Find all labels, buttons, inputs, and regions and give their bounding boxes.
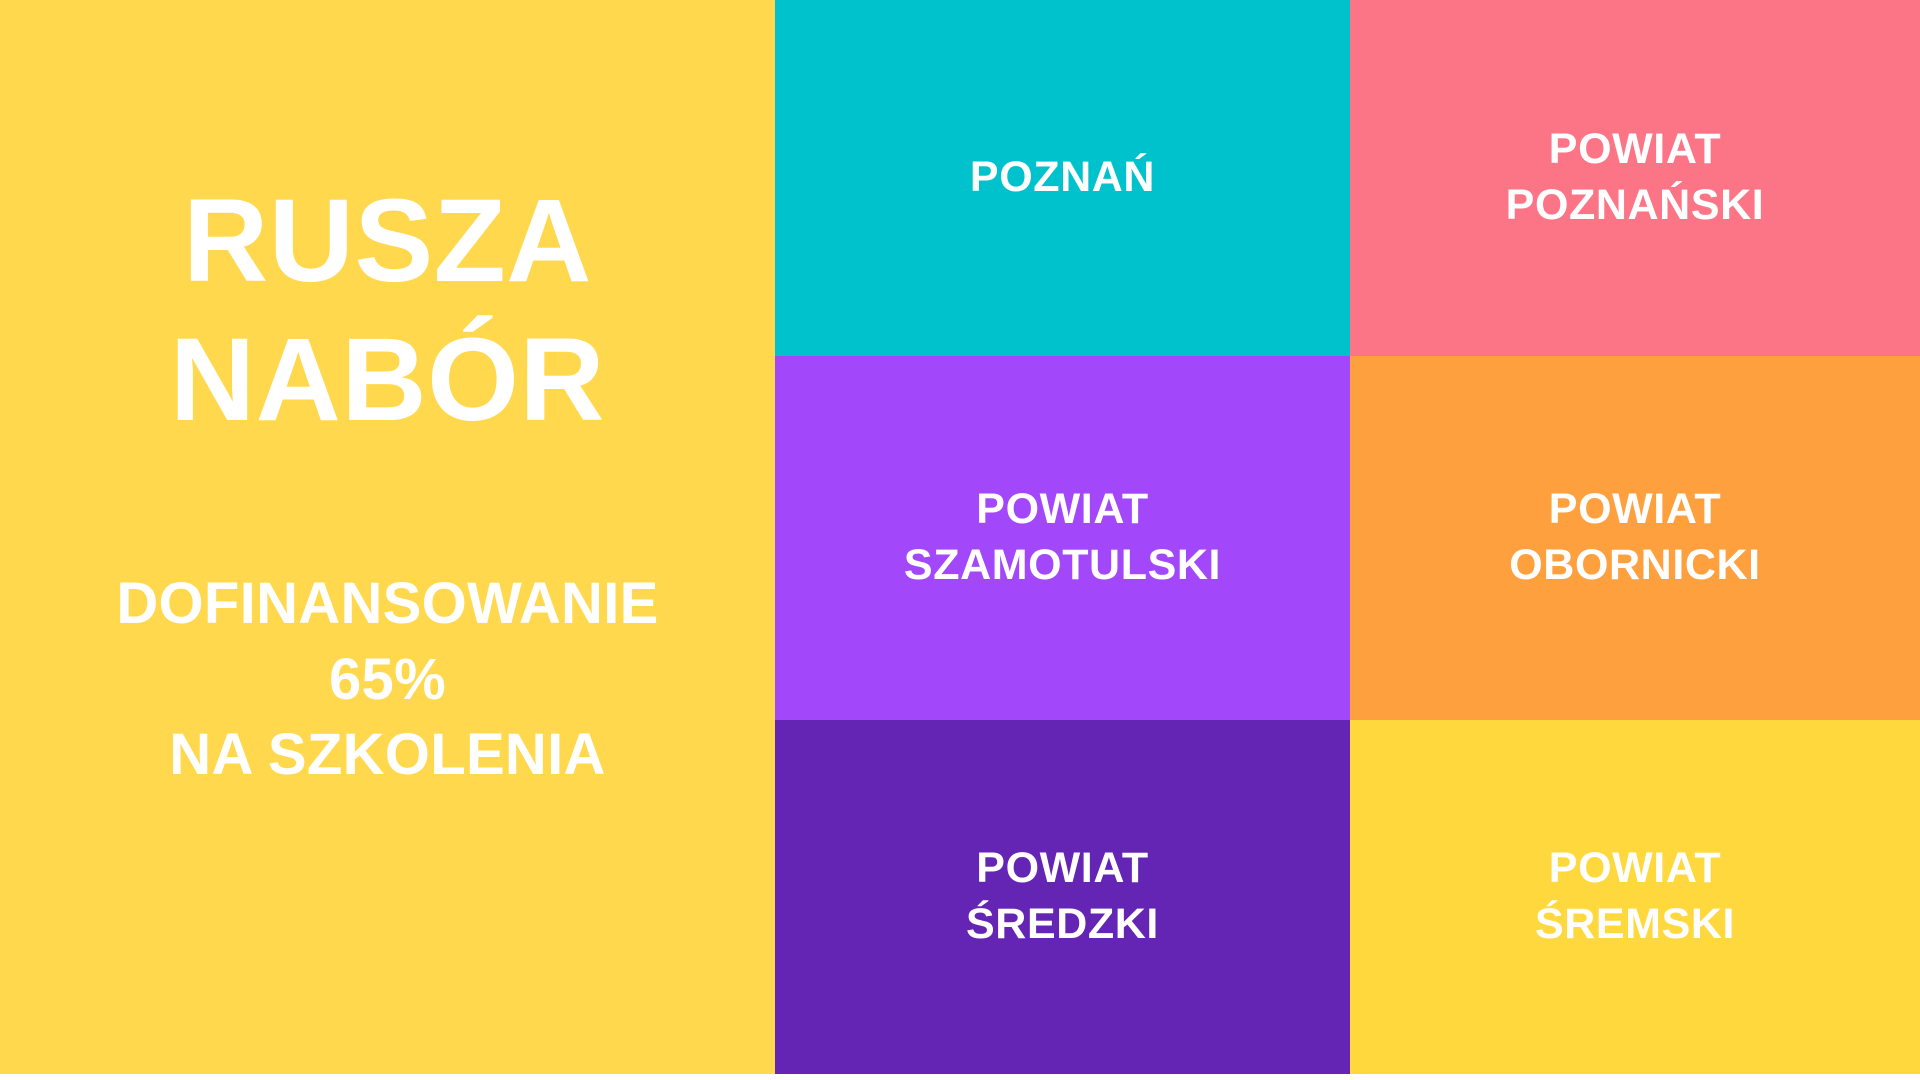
left-headline-panel: RUSZA NABÓR DOFINANSOWANIE 65% NA SZKOLE… <box>0 0 775 1074</box>
tile-label-powiat-sremski: POWIAT ŚREMSKI <box>1535 841 1735 953</box>
tile-poznan[interactable]: POZNAŃ <box>775 0 1350 356</box>
page-title: RUSZA NABÓR <box>0 172 775 450</box>
funding-percent-value: 65% <box>0 642 775 717</box>
tile-powiat-poznanski[interactable]: POWIAT POZNAŃSKI <box>1350 0 1920 356</box>
tile-powiat-sremski[interactable]: POWIAT ŚREMSKI <box>1350 720 1920 1074</box>
subline-line-1: DOFINANSOWANIE <box>0 566 775 641</box>
tile-powiat-obornicki[interactable]: POWIAT OBORNICKI <box>1350 356 1920 720</box>
tile-label-powiat-poznanski: POWIAT POZNAŃSKI <box>1506 122 1765 234</box>
subline-line-3: NA SZKOLENIA <box>0 717 775 792</box>
tile-label-powiat-szamotulski: POWIAT SZAMOTULSKI <box>904 482 1221 594</box>
region-tile-grid: POZNAŃ POWIAT POZNAŃSKI POWIAT SZAMOTULS… <box>775 0 1920 1074</box>
tile-powiat-sredzki[interactable]: POWIAT ŚREDZKI <box>775 720 1350 1074</box>
headline-line-2: NABÓR <box>0 311 775 450</box>
bottom-margin-strip <box>0 1074 1920 1080</box>
tile-powiat-szamotulski[interactable]: POWIAT SZAMOTULSKI <box>775 356 1350 720</box>
promotional-poster: RUSZA NABÓR DOFINANSOWANIE 65% NA SZKOLE… <box>0 0 1920 1080</box>
tile-label-powiat-obornicki: POWIAT OBORNICKI <box>1509 482 1760 594</box>
funding-subtitle: DOFINANSOWANIE 65% NA SZKOLENIA <box>0 566 775 792</box>
headline-line-1: RUSZA <box>0 172 775 311</box>
tile-label-powiat-sredzki: POWIAT ŚREDZKI <box>966 841 1159 953</box>
tile-label-poznan: POZNAŃ <box>970 150 1155 206</box>
